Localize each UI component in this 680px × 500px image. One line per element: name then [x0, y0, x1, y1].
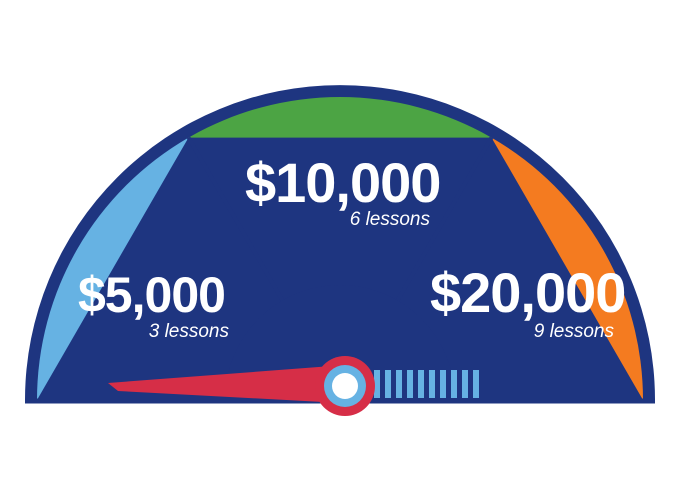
tier-high-lessons: 9 lessons — [534, 321, 615, 342]
tier-high-amount: $20,000 — [430, 261, 625, 324]
gauge-needle-hub-center — [332, 373, 358, 399]
gauge-tick — [407, 370, 413, 398]
gauge-tick — [451, 370, 457, 398]
gauge-segment-tier-mid[interactable] — [189, 97, 492, 138]
tier-mid-lessons: 6 lessons — [350, 209, 431, 230]
tier-low-lessons: 3 lessons — [149, 321, 230, 342]
gauge-tick — [473, 370, 479, 398]
gauge-tick — [429, 370, 435, 398]
tier-mid-amount: $10,000 — [245, 151, 440, 214]
gauge-graphic: $5,000 3 lessons $10,000 6 lessons $20,0… — [0, 0, 680, 500]
tier-low-amount: $5,000 — [78, 267, 225, 323]
gauge-tick — [396, 370, 402, 398]
gauge-tick — [462, 370, 468, 398]
gauge-tick — [440, 370, 446, 398]
gauge-tick — [418, 370, 424, 398]
gauge-tick — [385, 370, 391, 398]
gauge-chart: $5,000 3 lessons $10,000 6 lessons $20,0… — [0, 0, 680, 500]
